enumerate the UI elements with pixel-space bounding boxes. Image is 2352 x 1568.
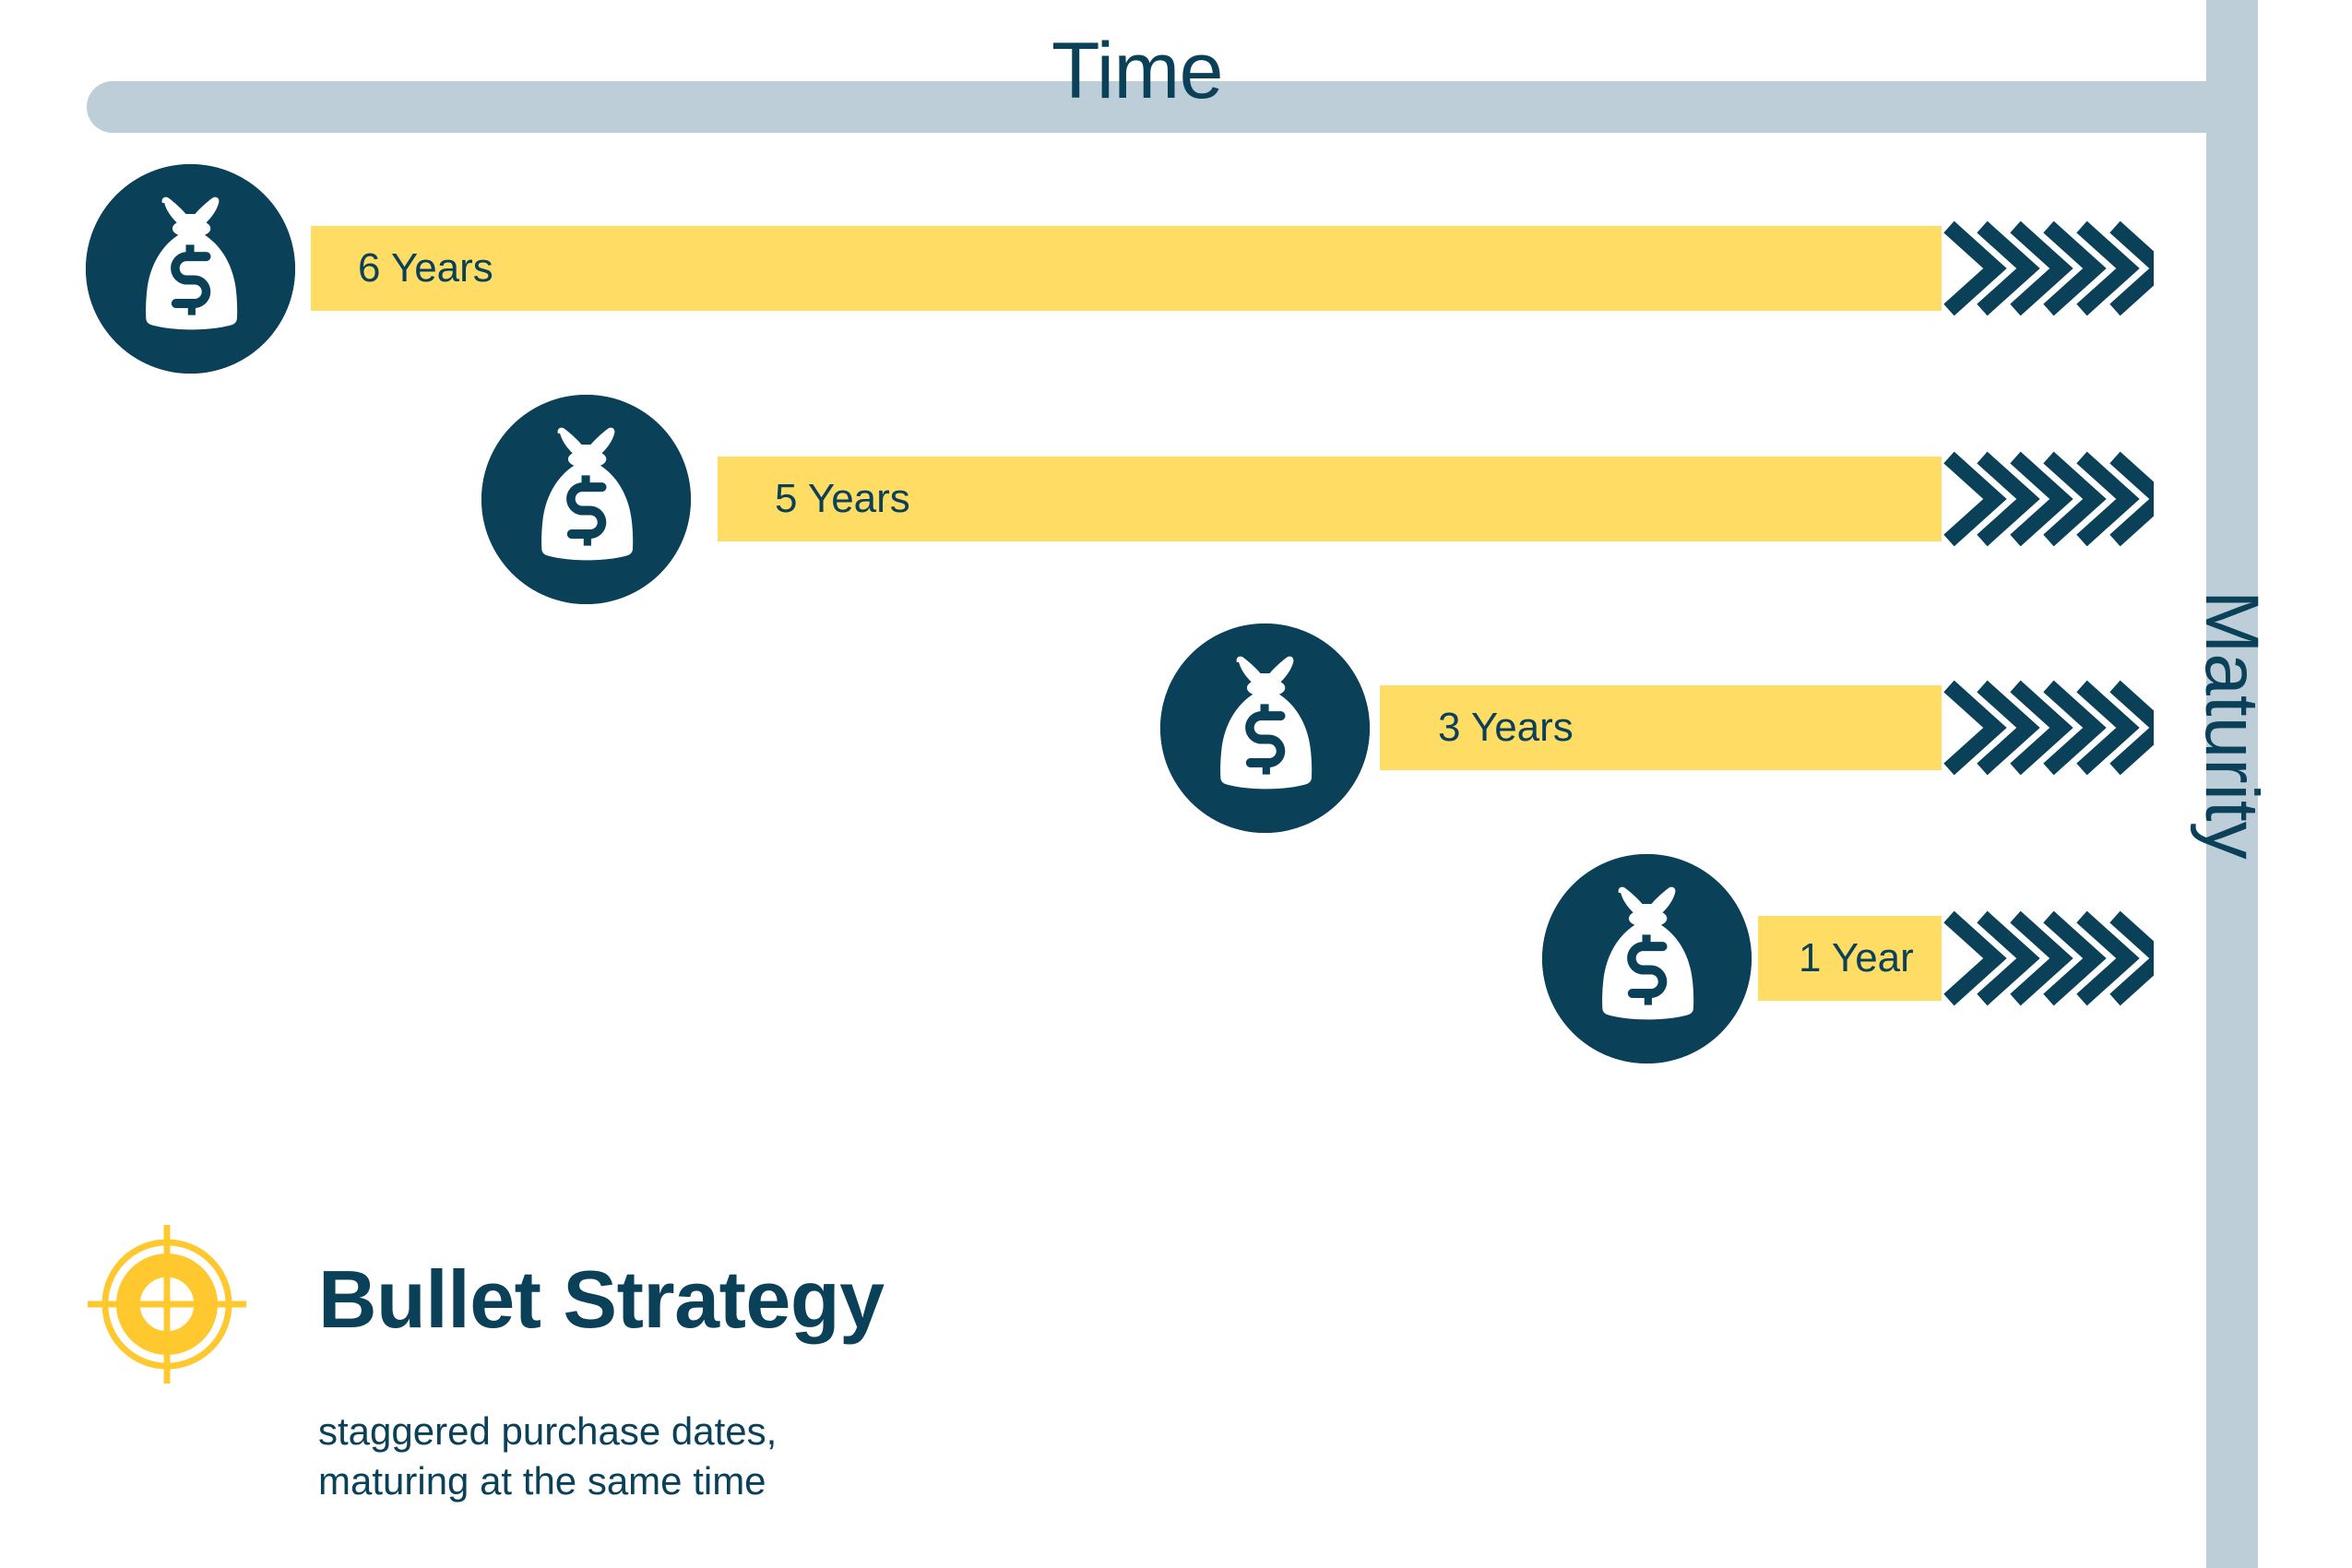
- target-icon: [88, 1225, 246, 1384]
- duration-bar: [311, 226, 1942, 311]
- time-axis-label: Time: [1051, 31, 1223, 111]
- maturity-arrow-chevrons: [1942, 214, 2154, 323]
- page-title: Bullet Strategy: [318, 1257, 885, 1342]
- duration-label: 5 Years: [775, 457, 910, 541]
- page-subtitle: staggered purchase dates, maturing at th…: [318, 1407, 777, 1506]
- duration-label: 1 Year: [1799, 916, 1914, 1001]
- money-bag-icon: [86, 164, 295, 374]
- duration-label: 6 Years: [358, 226, 493, 311]
- money-bag-icon: [1542, 854, 1752, 1063]
- maturity-arrow-chevrons: [1942, 673, 2154, 782]
- page-subtitle-line-2: maturing at the same time: [318, 1456, 777, 1506]
- maturity-arrow-chevrons: [1942, 904, 2154, 1013]
- maturity-arrow-chevrons: [1942, 445, 2154, 553]
- money-bag-icon: [481, 395, 691, 604]
- money-bag-icon: [1160, 624, 1370, 833]
- page-subtitle-line-1: staggered purchase dates,: [318, 1407, 777, 1456]
- duration-label: 3 Years: [1438, 685, 1574, 770]
- infographic-canvas: Time Maturity 6 Years: [0, 0, 2352, 1568]
- maturity-axis-label: Maturity: [2193, 590, 2269, 941]
